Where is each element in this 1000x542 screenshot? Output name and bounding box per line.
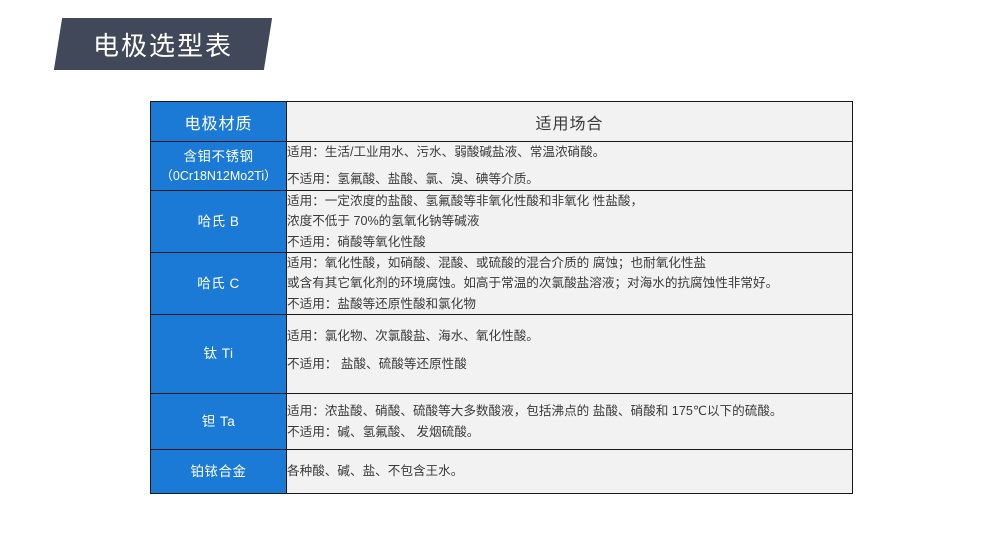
usage-cell: 适用：浓盐酸、硝酸、硫酸等大多数酸液，包括沸点的 盐酸、硝酸和 175℃以下的硫… [287,394,853,450]
usage-cell: 适用：氯化物、次氯酸盐、海水、氧化性酸。 不适用： 盐酸、硫酸等还原性酸 [287,315,853,394]
usage-cell: 各种酸、碱、盐、不包含王水。 [287,450,853,494]
material-name: 含钼不锈钢 [184,149,254,164]
material-name: 钽 Ta [202,414,236,429]
material-cell: 含钼不锈钢 （0Cr18N12Mo2Ti） [151,142,287,191]
usage-cell: 适用：生活/工业用水、污水、弱酸碱盐液、常温浓硝酸。 不适用：氢氟酸、盐酸、氯、… [287,142,853,191]
usage-line: 浓度不低于 70%的氢氧化钠等碱液 [287,211,852,231]
table-row: 钛 Ti 适用：氯化物、次氯酸盐、海水、氧化性酸。 不适用： 盐酸、硫酸等还原性… [151,315,853,394]
page-title-banner: 电极选型表 [58,18,268,70]
column-header-usage: 适用场合 [287,102,853,142]
material-cell: 钛 Ti [151,315,287,394]
table-row: 含钼不锈钢 （0Cr18N12Mo2Ti） 适用：生活/工业用水、污水、弱酸碱盐… [151,142,853,191]
usage-line: 适用：生活/工业用水、污水、弱酸碱盐液、常温浓硝酸。 [287,142,852,162]
material-name: 哈氏 B [198,214,240,229]
electrode-selection-table: 电极材质 适用场合 含钼不锈钢 （0Cr18N12Mo2Ti） 适用：生活/工业… [150,101,853,494]
column-header-material: 电极材质 [151,102,287,142]
page-title: 电极选型表 [58,18,268,70]
usage-line: 不适用：碱、氢氟酸、 发烟硫酸。 [287,422,852,442]
usage-line: 适用：氯化物、次氯酸盐、海水、氧化性酸。 [287,326,852,346]
table-header-row: 电极材质 适用场合 [151,102,853,142]
material-name: 铂铱合金 [191,464,247,479]
usage-line: 不适用： 盐酸、硫酸等还原性酸 [287,354,852,374]
table-row: 铂铱合金 各种酸、碱、盐、不包含王水。 [151,450,853,494]
table-row: 哈氏 C 适用：氧化性酸，如硝酸、混酸、或硫酸的混合介质的 腐蚀；也耐氧化性盐 … [151,252,853,314]
usage-line: 适用：氧化性酸，如硝酸、混酸、或硫酸的混合介质的 腐蚀；也耐氧化性盐 [287,253,852,273]
material-cell: 铂铱合金 [151,450,287,494]
usage-line: 各种酸、碱、盐、不包含王水。 [287,461,852,481]
usage-line: 不适用：硝酸等氧化性酸 [287,232,852,252]
usage-line: 适用：一定浓度的盐酸、氢氟酸等非氧化性酸和非氧化 性盐酸， [287,191,852,211]
table-row: 哈氏 B 适用：一定浓度的盐酸、氢氟酸等非氧化性酸和非氧化 性盐酸， 浓度不低于… [151,190,853,252]
usage-line: 不适用：氢氟酸、盐酸、氯、溴、碘等介质。 [287,169,852,189]
material-cell: 哈氏 C [151,252,287,314]
material-cell: 哈氏 B [151,190,287,252]
electrode-selection-table-wrapper: 电极材质 适用场合 含钼不锈钢 （0Cr18N12Mo2Ti） 适用：生活/工业… [150,101,852,494]
material-code: （0Cr18N12Mo2Ti） [151,167,286,185]
usage-line: 适用：浓盐酸、硝酸、硫酸等大多数酸液，包括沸点的 盐酸、硝酸和 175℃以下的硫… [287,401,852,421]
table-row: 钽 Ta 适用：浓盐酸、硝酸、硫酸等大多数酸液，包括沸点的 盐酸、硝酸和 175… [151,394,853,450]
usage-cell: 适用：氧化性酸，如硝酸、混酸、或硫酸的混合介质的 腐蚀；也耐氧化性盐 或含有其它… [287,252,853,314]
material-name: 哈氏 C [197,276,240,291]
material-name: 钛 Ti [204,346,234,361]
usage-cell: 适用：一定浓度的盐酸、氢氟酸等非氧化性酸和非氧化 性盐酸， 浓度不低于 70%的… [287,190,853,252]
material-cell: 钽 Ta [151,394,287,450]
usage-line: 或含有其它氧化剂的环境腐蚀。如高于常温的次氯酸盐溶液；对海水的抗腐蚀性非常好。 [287,273,852,293]
usage-line: 不适用：盐酸等还原性酸和氯化物 [287,294,852,314]
